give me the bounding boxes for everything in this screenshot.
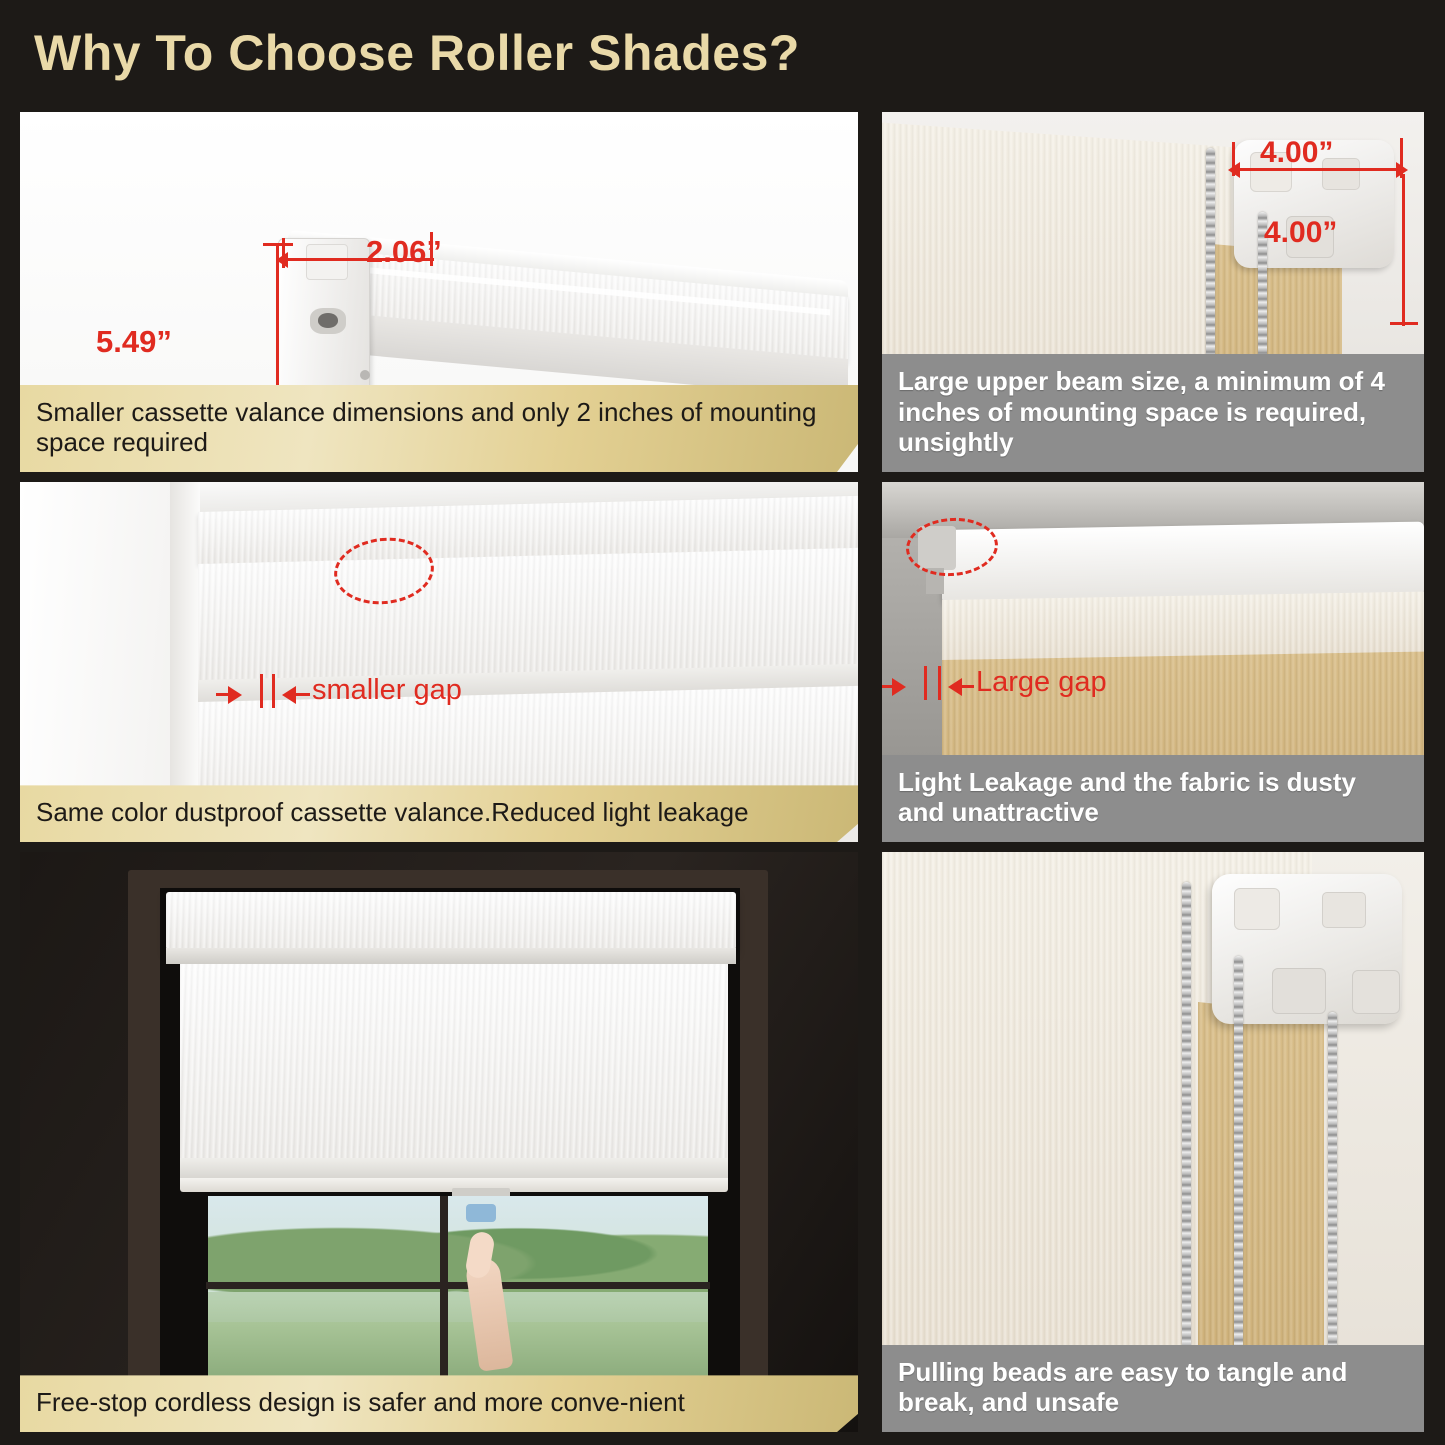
large-gap-label: Large gap: [976, 666, 1107, 699]
page-title: Why To Choose Roller Shades?: [34, 24, 800, 82]
caption-large-upper-beam: Large upper beam size, a minimum of 4 in…: [882, 354, 1424, 472]
card-dustproof-cassette-valance: smaller gap Same color dustproof cassett…: [20, 482, 858, 842]
beam-width-label: 4.00”: [1260, 136, 1333, 170]
card-row-3: Free-stop cordless design is safer and m…: [20, 852, 1425, 1432]
width-dimension-label: 2.06”: [366, 234, 442, 270]
card-row-2: smaller gap Same color dustproof cassett…: [20, 482, 1425, 842]
smaller-gap-label: smaller gap: [312, 674, 462, 707]
photo-cordless-window: [20, 852, 858, 1432]
card-free-stop-cordless: Free-stop cordless design is safer and m…: [20, 852, 858, 1432]
card-row-1: 2.06” 5.49” Smaller cassette valance dim…: [20, 112, 1425, 472]
card-large-upper-beam: 4.00” 4.00” Large upper beam size, a min…: [882, 112, 1424, 472]
card-cassette-valance-dimensions: 2.06” 5.49” Smaller cassette valance dim…: [20, 112, 858, 472]
beam-depth-label: 4.00”: [1264, 216, 1337, 250]
caption-free-stop-cordless: Free-stop cordless design is safer and m…: [20, 1375, 858, 1432]
caption-cassette-valance-dimensions: Smaller cassette valance dimensions and …: [20, 385, 858, 472]
caption-light-leakage: Light Leakage and the fabric is dusty an…: [882, 755, 1424, 842]
card-grid: 2.06” 5.49” Smaller cassette valance dim…: [20, 112, 1425, 1442]
caption-pulling-beads: Pulling beads are easy to tangle and bre…: [882, 1345, 1424, 1432]
height-dimension-label: 5.49”: [96, 324, 172, 360]
card-light-leakage: Large gap Light Leakage and the fabric i…: [882, 482, 1424, 842]
caption-dustproof-cassette-valance: Same color dustproof cassette valance.Re…: [20, 785, 858, 842]
infographic-page: Why To Choose Roller Shades?: [0, 0, 1445, 1445]
card-pulling-beads: Pulling beads are easy to tangle and bre…: [882, 852, 1424, 1432]
